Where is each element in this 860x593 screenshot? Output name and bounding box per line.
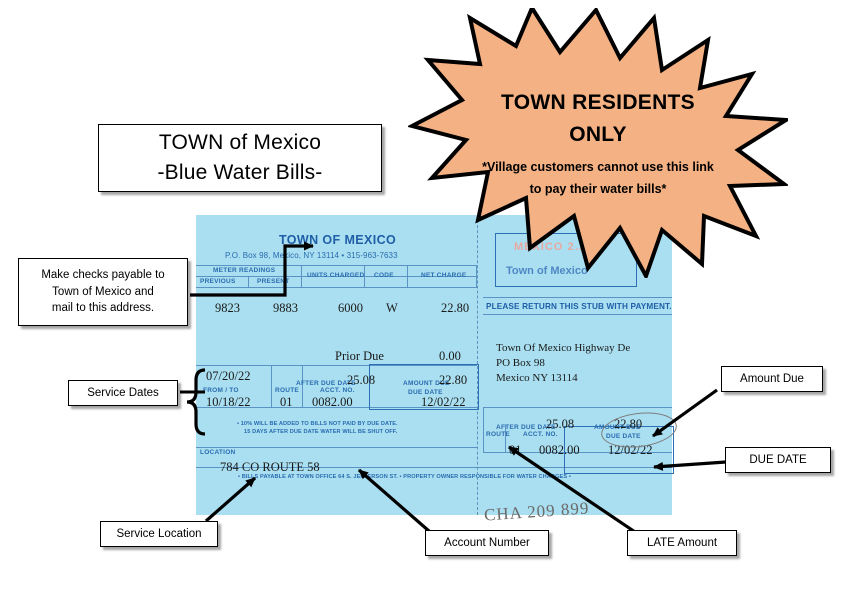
callout-account-number: Account Number [425,530,549,556]
amount-due-value-main: 22.80 [439,373,467,388]
handwritten-note: CHA 209 899 [483,498,590,525]
starburst-heading-line2: ONLY [569,119,627,151]
units-charged-value: 6000 [338,301,363,316]
column-previous: PREVIOUS [200,278,236,285]
bill-address-line: P.O. Box 98, Mexico, NY 13114 • 315-963-… [225,251,398,260]
from-to-label: FROM / TO [203,387,239,394]
remit-line-3: Mexico NY 13114 [496,372,578,384]
service-location-address: 784 CO ROUTE 58 [220,460,320,475]
column-present: PRESENT [257,278,289,285]
callout-amount-due: Amount Due [721,366,823,392]
acct-no-label-stub: ACCT. NO. [523,431,558,438]
prior-due-label: Prior Due [335,349,384,364]
late-warning-line2: 15 DAYS AFTER DUE DATE WATER WILL BE SHU… [244,429,397,435]
screenshot-canvas: TOWN OF MEXICO P.O. Box 98, Mexico, NY 1… [0,0,860,593]
column-units-charged: UNITS CHARGED [307,272,364,279]
starburst-heading-line1: TOWN RESIDENTS [501,87,695,119]
route-value-main: 01 [280,395,293,410]
meter-previous-value: 9823 [215,301,240,316]
remit-line-1: Town Of Mexico Highway De [496,342,630,354]
service-to-date: 10/18/22 [206,395,250,410]
return-stub-notice: PLEASE RETURN THIS STUB WITH PAYMENT. [486,302,672,311]
acct-no-label-main: ACCT. NO. [320,387,355,394]
footer-fine-print: • BILLS PAYABLE AT TOWN OFFICE 64 S. JEF… [238,474,571,480]
callout-mail-address: Make checks payable to Town of Mexico an… [18,258,188,326]
route-label-main: ROUTE [275,387,299,394]
service-from-date: 07/20/22 [206,369,250,384]
callout-service-dates: Service Dates [68,380,178,406]
town-residents-only-starburst: TOWN RESIDENTS ONLY *Village customers c… [408,8,788,278]
remit-line-2: PO Box 98 [496,357,545,369]
callout-service-location: Service Location [100,521,218,547]
meter-present-value: 9883 [273,301,298,316]
due-date-value-main: 12/02/22 [421,395,465,410]
callout-late-amount: LATE Amount [627,530,737,556]
code-value: W [386,301,398,316]
after-due-date-amount-main: 25.08 [347,373,375,388]
meter-readings-group-header: METER READINGS [213,267,275,274]
acct-no-value-main: 0082.00 [312,395,353,410]
location-label: LOCATION [200,449,235,456]
after-due-date-amount-stub: 25.08 [546,417,574,432]
callout-title-box: TOWN of Mexico -Blue Water Bills- [98,124,382,192]
bill-town-name: TOWN OF MEXICO [279,233,396,247]
prior-due-value: 0.00 [439,349,461,364]
mail-line-2: Town of Mexico and [41,284,164,301]
route-label-stub: ROUTE [486,431,510,438]
late-warning-line1: • 10% WILL BE ADDED TO BILLS NOT PAID BY… [237,421,398,427]
column-code: CODE [374,272,394,279]
title-line-2: -Blue Water Bills- [157,158,322,188]
starburst-note-line2: to pay their water bills* [530,179,667,199]
title-line-1: TOWN of Mexico [157,128,322,158]
net-charge-value: 22.80 [441,301,469,316]
callout-due-date: DUE DATE [725,447,831,473]
route-value-stub: 01 [509,443,522,458]
acct-no-value-stub: 0082.00 [539,443,580,458]
mail-line-1: Make checks payable to [41,267,164,284]
starburst-note-line1: *Village customers cannot use this link [482,157,714,177]
mail-line-3: mail to this address. [41,300,164,317]
